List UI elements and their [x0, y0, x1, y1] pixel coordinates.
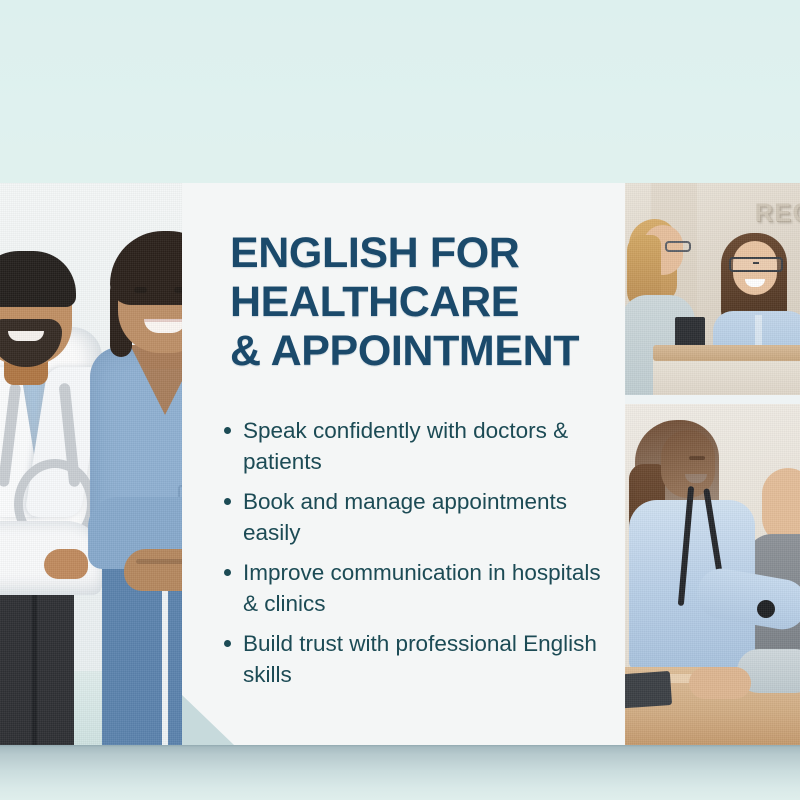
desk-front-panel — [653, 359, 800, 395]
photo-column: REC — [625, 183, 800, 745]
nurse-eye-left — [134, 287, 147, 293]
accent-triangle — [182, 695, 234, 745]
poster-canvas: ENGLISH FOR HEALTHCARE & APPOINTMENT Spe… — [0, 0, 800, 800]
exam-patient-head — [762, 468, 800, 544]
doctor-eye-left — [0, 297, 9, 303]
clipboard-icon — [625, 671, 672, 709]
nurse-brow-left — [132, 277, 149, 281]
promo-card: ENGLISH FOR HEALTHCARE & APPOINTMENT Spe… — [0, 183, 800, 745]
reception-desk-photo: REC — [625, 183, 800, 395]
list-item: Build trust with professional English sk… — [218, 628, 618, 690]
list-item: Book and manage appointments easily — [218, 486, 618, 548]
canvas-top-band — [0, 0, 800, 184]
doctor-smile — [8, 331, 44, 341]
text-panel: ENGLISH FOR HEALTHCARE & APPOINTMENT Spe… — [182, 183, 626, 745]
consultation-photo — [625, 404, 800, 745]
list-item: Speak confidently with doctors & patient… — [218, 415, 618, 477]
headline-line-2: HEALTHCARE — [230, 278, 620, 327]
benefits-list: Speak confidently with doctors & patient… — [218, 415, 618, 699]
headline-line-3: & APPOINTMENT — [230, 327, 620, 376]
doctor-eye-right — [34, 297, 47, 303]
receptionist-glasses-icon — [729, 257, 783, 272]
desk-monitor — [675, 317, 705, 347]
exam-stethoscope-bell — [757, 600, 775, 618]
reception-sign: REC — [755, 199, 800, 228]
exam-patient-hand — [689, 667, 751, 699]
photo-divider — [625, 395, 800, 404]
canvas-bottom-band — [0, 744, 800, 800]
list-item: Improve communication in hospitals & cli… — [218, 557, 618, 619]
headline-line-1: ENGLISH FOR — [230, 229, 620, 278]
page-title: ENGLISH FOR HEALTHCARE & APPOINTMENT — [230, 229, 620, 376]
desk-counter-top — [653, 345, 800, 361]
patient-glasses-icon — [665, 241, 691, 252]
